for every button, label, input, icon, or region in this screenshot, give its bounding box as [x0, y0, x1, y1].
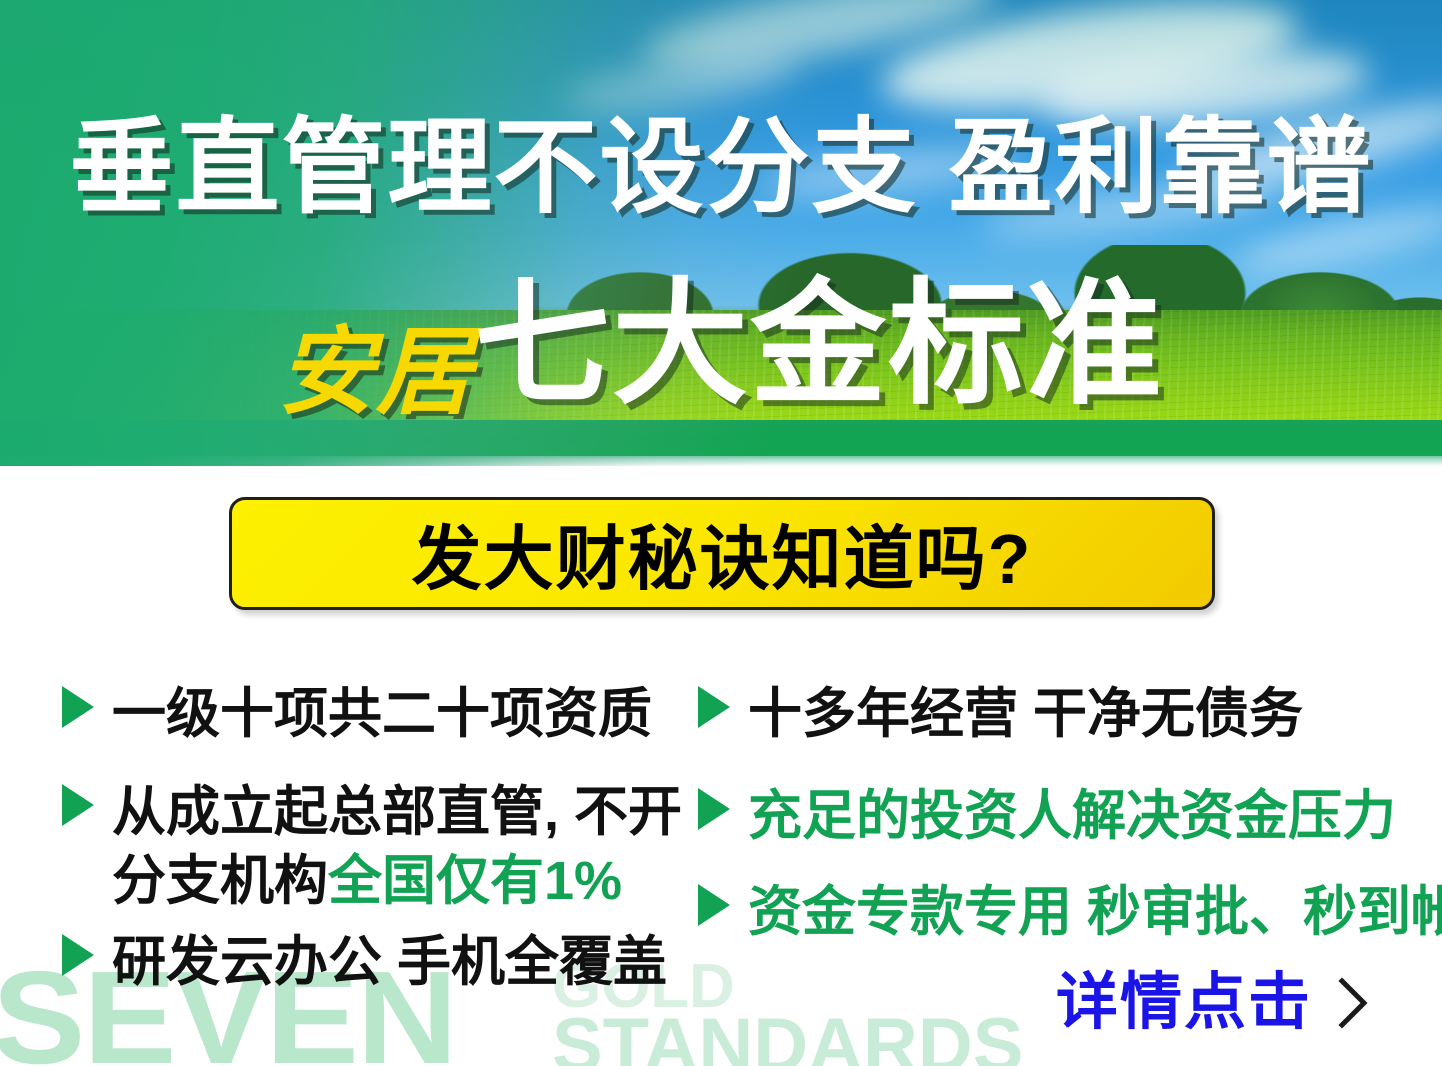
- list-item-line2-highlight: 全国仅有1%: [328, 851, 622, 911]
- list-item-label: 充足的投资人解决资金压力: [748, 782, 1396, 851]
- triangle-bullet-icon: [62, 686, 94, 728]
- triangle-bullet-icon: [62, 784, 94, 826]
- hero-subline: 安居七大金标准: [0, 276, 1442, 421]
- list-item-line1: 从成立起总部直管, 不开: [112, 782, 682, 842]
- list-item-label: 从成立起总部直管, 不开分支机构全国仅有1%: [112, 778, 682, 916]
- advertisement-banner: 垂直管理不设分支 盈利靠谱 安居七大金标准 发大财秘诀知道吗? SEVEN GO…: [0, 0, 1442, 1066]
- triangle-bullet-icon: [698, 884, 730, 926]
- watermark-standards: STANDARDS: [552, 1008, 1023, 1066]
- list-item: 从成立起总部直管, 不开分支机构全国仅有1%: [62, 778, 682, 916]
- list-item-label: 资金专款专用 秒审批、秒到帐: [748, 878, 1442, 947]
- details-cta-button[interactable]: 详情点击: [1056, 972, 1370, 1034]
- feature-list: 一级十项共二十项资质 从成立起总部直管, 不开分支机构全国仅有1% 研发云办公 …: [0, 660, 1442, 1000]
- list-item: 十多年经营 干净无债务: [698, 680, 1303, 749]
- list-item: 充足的投资人解决资金压力: [698, 782, 1396, 851]
- highlight-banner-text: 发大财秘诀知道吗?: [412, 503, 1033, 604]
- list-item-label: 一级十项共二十项资质: [112, 680, 652, 749]
- triangle-bullet-icon: [698, 788, 730, 830]
- triangle-bullet-icon: [698, 686, 730, 728]
- list-item: 资金专款专用 秒审批、秒到帐: [698, 878, 1442, 947]
- triangle-bullet-icon: [62, 934, 94, 976]
- chevron-right-icon: [1334, 975, 1370, 1031]
- highlight-banner[interactable]: 发大财秘诀知道吗?: [229, 497, 1215, 610]
- list-item: 研发云办公 手机全覆盖: [62, 928, 667, 997]
- hero-subline-text: 七大金标准: [474, 268, 1164, 420]
- list-item-line2-plain: 分支机构: [112, 851, 328, 911]
- list-item: 一级十项共二十项资质: [62, 680, 652, 749]
- details-cta-label: 详情点击: [1056, 972, 1312, 1034]
- brand-name: 安居: [278, 319, 474, 426]
- hero-headline: 垂直管理不设分支 盈利靠谱: [0, 116, 1442, 220]
- list-item-label: 研发云办公 手机全覆盖: [112, 928, 667, 997]
- list-item-label: 十多年经营 干净无债务: [748, 680, 1303, 749]
- hero-image: 垂直管理不设分支 盈利靠谱 安居七大金标准: [0, 0, 1442, 466]
